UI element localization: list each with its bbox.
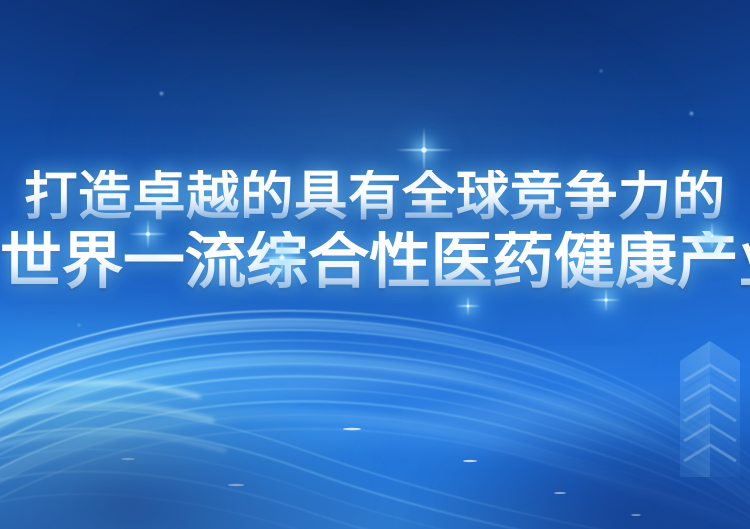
slogan-block: 打造卓越的具有全球竞争力的 世界一流综合性医药健康产业集团 — [0, 170, 750, 293]
dust-mote — [600, 70, 602, 72]
bottom-left-shadow — [0, 379, 380, 529]
corporate-tower-icon — [678, 337, 742, 477]
dust-mote — [78, 324, 80, 326]
dust-mote — [160, 92, 163, 95]
slogan-line-2: 世界一流综合性医药健康产业集团 — [0, 231, 750, 293]
banner-canvas: 打造卓越的具有全球竞争力的 世界一流综合性医药健康产业集团 — [0, 0, 750, 529]
slogan-line-1: 打造卓越的具有全球竞争力的 — [0, 170, 750, 223]
dust-mote — [690, 112, 693, 115]
